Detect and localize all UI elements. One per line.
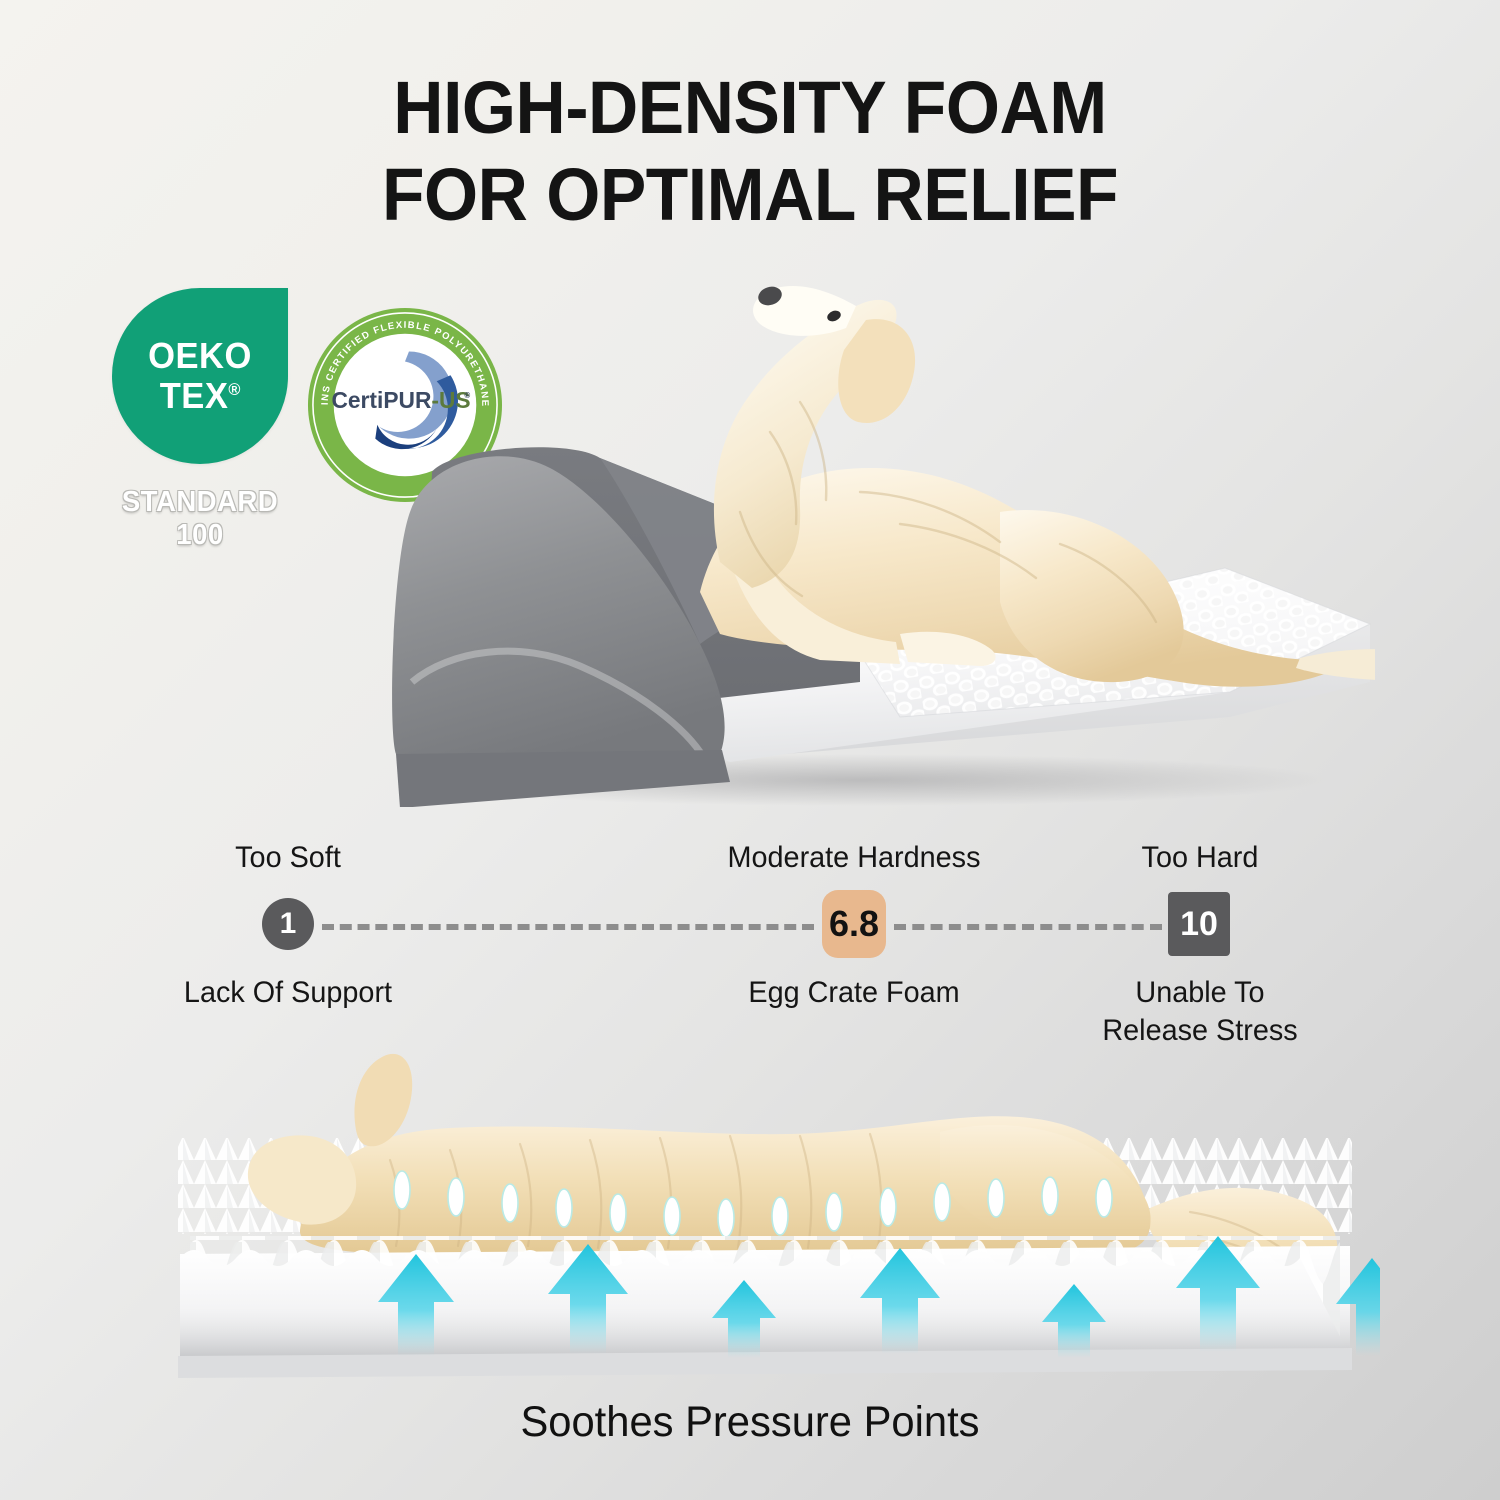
oeko-tex-line-1: OEKO [148,338,252,374]
scale-bottom-label-3: Unable To Release Stress [998,974,1401,1050]
pressure-points-illustration [150,1040,1380,1385]
scale-bottom-label-3-line-1: Unable To [998,974,1401,1012]
product-photo [300,262,1375,807]
oeko-tex-standard-label: STANDARD 100 [116,486,283,552]
lying-dog-ear [354,1054,412,1146]
page-title: HIGH-DENSITY FOAM FOR OPTIMAL RELIEF [45,64,1455,239]
page-title-line-2: FOR OPTIMAL RELIEF [45,151,1455,238]
scale-connector-2 [894,924,1162,930]
foam-front-slab [170,1236,1370,1378]
oeko-tex-standard-line-1: STANDARD [116,486,283,519]
dog-on-bed-illustration [300,262,1375,807]
dog-on-foam-pressure-diagram [150,1040,1380,1385]
scale-marker-1: 1 [262,898,314,950]
scale-bottom-label-1: Lack Of Support [86,974,489,1012]
oeko-tex-registered-mark: ® [228,380,241,399]
scale-top-label-3: Too Hard [998,840,1401,876]
scale-top-label-1: Too Soft [86,840,489,876]
page-title-line-1: HIGH-DENSITY FOAM [45,64,1455,151]
scale-bottom-label-2: Egg Crate Foam [652,974,1055,1012]
oeko-tex-droplet-icon: OEKO TEX® [112,288,288,464]
scale-marker-6-8: 6.8 [822,890,886,958]
scale-marker-10: 10 [1168,892,1230,956]
oeko-tex-line-2-text: TEX [159,375,228,416]
footer-caption: Soothes Pressure Points [23,1398,1478,1447]
scale-connector-1 [322,924,814,930]
scale-top-label-2: Moderate Hardness [652,840,1055,876]
oeko-tex-standard-line-2: 100 [116,519,283,552]
oeko-tex-line-2: TEX® [159,378,240,414]
oeko-tex-badge: OEKO TEX® STANDARD 100 [112,288,288,552]
hardness-scale: Too Soft Moderate Hardness Too Hard 1 6.… [0,840,1500,1045]
